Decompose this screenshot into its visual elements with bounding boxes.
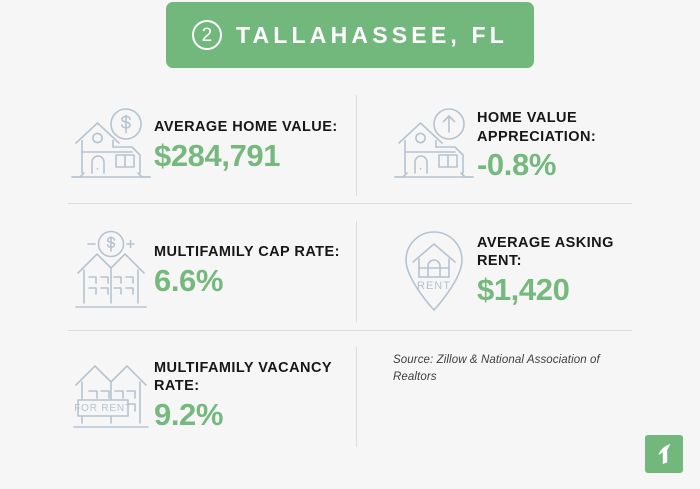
stat-item-average-home-value: AVERAGE HOME VALUE: $284,791 [68, 88, 357, 203]
stat-value: 6.6% [154, 264, 347, 297]
stat-row: MULTIFAMILY CAP RATE: 6.6% RENT AVERAGE [68, 210, 632, 330]
brand-logo [645, 435, 683, 473]
stat-item-multifamily-vacancy-rate: FOR RENT MULTIFAMILY VACANCY RATE: 9.2% [68, 337, 357, 453]
multifamily-buildings-with-dollar-cap-icon [68, 229, 154, 311]
brand-logo-mark [654, 442, 674, 466]
rank-badge: 2 [192, 20, 222, 50]
stat-item-average-asking-rent: RENT AVERAGE ASKING RENT: $1,420 [357, 210, 632, 330]
stat-label: MULTIFAMILY CAP RATE: [154, 243, 347, 262]
horizontal-divider [68, 330, 632, 331]
stat-row: AVERAGE HOME VALUE: $284,791 [68, 88, 632, 203]
source-note: Source: Zillow & National Association of… [393, 352, 623, 387]
stat-text-block: AVERAGE ASKING RENT: $1,420 [477, 234, 622, 307]
stat-value: -0.8% [477, 148, 622, 181]
stats-grid: AVERAGE HOME VALUE: $284,791 [68, 88, 632, 453]
stat-item-multifamily-cap-rate: MULTIFAMILY CAP RATE: 6.6% [68, 210, 357, 330]
house-with-up-arrow-circle-icon [391, 107, 477, 185]
stat-label: AVERAGE ASKING RENT: [477, 234, 622, 271]
stat-value: $284,791 [154, 139, 347, 172]
stat-value: $1,420 [477, 273, 622, 306]
map-pin-rent-house-icon: RENT [391, 227, 477, 313]
for-rent-sign-label: FOR RENT [74, 403, 132, 414]
rent-pin-label: RENT [417, 280, 451, 292]
stat-value: 9.2% [154, 398, 347, 431]
stat-text-block: AVERAGE HOME VALUE: $284,791 [154, 118, 347, 172]
stat-label: HOME VALUE APPRECIATION: [477, 109, 622, 146]
city-header-banner: 2 TALLAHASSEE, FL [166, 2, 534, 68]
stat-label: AVERAGE HOME VALUE: [154, 118, 347, 137]
stat-label: MULTIFAMILY VACANCY RATE: [154, 359, 347, 396]
stat-text-block: HOME VALUE APPRECIATION: -0.8% [477, 109, 622, 182]
multifamily-buildings-for-rent-icon: FOR RENT [68, 355, 154, 435]
stat-text-block: MULTIFAMILY VACANCY RATE: 9.2% [154, 359, 347, 432]
stat-item-home-value-appreciation: HOME VALUE APPRECIATION: -0.8% [357, 88, 632, 203]
stat-text-block: MULTIFAMILY CAP RATE: 6.6% [154, 243, 347, 297]
page-title: TALLAHASSEE, FL [236, 24, 508, 47]
horizontal-divider [68, 203, 632, 204]
house-with-dollar-circle-icon [68, 107, 154, 185]
